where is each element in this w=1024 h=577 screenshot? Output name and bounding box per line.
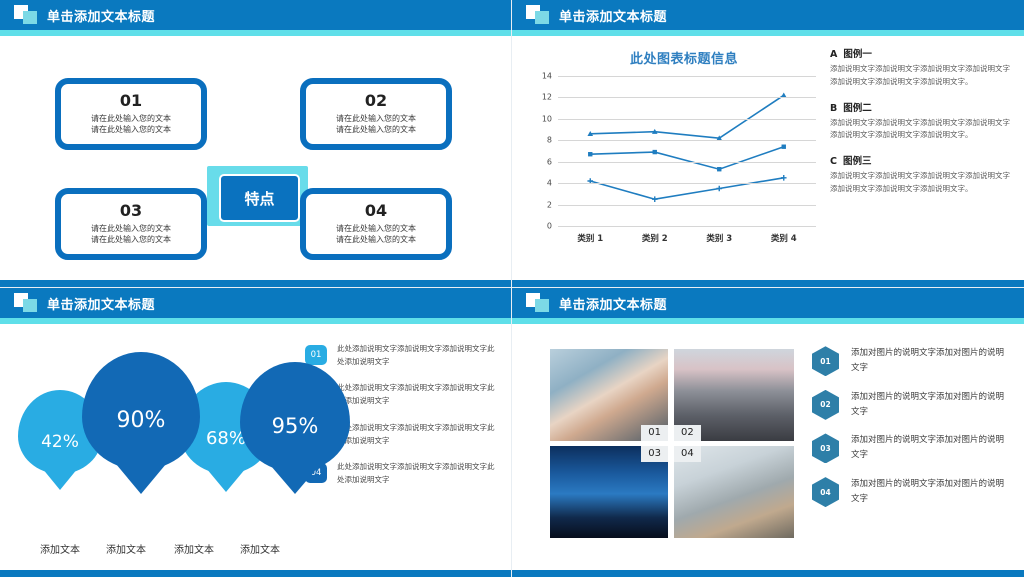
chart-gridline xyxy=(558,162,816,163)
chart-y-tick-label: 2 xyxy=(547,200,552,209)
pin-4-label: 添加文本 xyxy=(214,541,306,556)
photo-desc-03: 添加对图片的说明文字添加对图片的说明文字 xyxy=(851,433,1012,464)
chart-gridline xyxy=(558,183,816,184)
pin-4[interactable]: 95% xyxy=(240,362,350,472)
chart-marker xyxy=(716,186,722,192)
feature-box-03-line2: 请在此处输入您的文本 xyxy=(91,234,171,246)
legend-item-1-title: 图例一 xyxy=(843,49,872,60)
pin-3-tip xyxy=(206,468,246,492)
legend-item-3-letter: C xyxy=(830,156,837,167)
slide-1-footer-bar xyxy=(0,280,511,287)
slide-4-title: 单击添加文本标题 xyxy=(559,294,667,313)
chart-gridline xyxy=(558,76,816,77)
legend-item-1-heading: A图例一 xyxy=(830,46,1010,60)
feature-box-01-line2: 请在此处输入您的文本 xyxy=(91,124,171,136)
photo-desc-02: 添加对图片的说明文字添加对图片的说明文字 xyxy=(851,390,1012,421)
center-feature-box: 特点 xyxy=(219,174,300,222)
chart-y-tick-label: 4 xyxy=(547,179,552,188)
feature-box-02-number: 02 xyxy=(365,92,387,110)
feature-box-04-line2: 请在此处输入您的文本 xyxy=(336,234,416,246)
legend-item-1-desc: 添加说明文字添加说明文字添加说明文字添加说明文字添加说明文字添加说明文字添加说明… xyxy=(830,63,1010,89)
chart-gridline xyxy=(558,226,816,227)
chart-y-tick-label: 0 xyxy=(547,222,552,231)
chart-x-tick-label: 类别 2 xyxy=(623,232,688,250)
line-chart-plot: 02468101214 xyxy=(558,76,816,226)
hex-badge-04: 04 xyxy=(812,477,839,507)
chart-y-tick-label: 8 xyxy=(547,136,552,145)
photo-desc-01: 添加对图片的说明文字添加对图片的说明文字 xyxy=(851,346,1012,377)
chart-marker xyxy=(652,196,658,202)
chart-y-tick-label: 14 xyxy=(542,72,552,81)
pin-2[interactable]: 90% xyxy=(82,352,200,470)
chart-marker xyxy=(717,167,721,171)
feature-box-01-number: 01 xyxy=(120,92,142,110)
chart-series-line-1 xyxy=(590,95,784,138)
chart-marker xyxy=(653,150,657,154)
chart-x-tick-label: 类别 4 xyxy=(752,232,817,250)
slide-1-title: 单击添加文本标题 xyxy=(47,6,155,25)
pin-4-percent: 95% xyxy=(240,414,350,438)
legend-item-3: C图例三添加说明文字添加说明文字添加说明文字添加说明文字添加说明文字添加说明文字… xyxy=(830,153,1010,196)
slide-3-title: 单击添加文本标题 xyxy=(47,294,155,313)
photo-tag-02: 02 xyxy=(674,425,701,441)
slide-3-header: 单击添加文本标题 xyxy=(0,288,511,318)
chart-marker xyxy=(781,175,787,181)
list-item[interactable]: 04此处添加说明文字添加说明文字添加说明文字此处添加说明文字 xyxy=(305,460,500,486)
list-item[interactable]: 01添加对图片的说明文字添加对图片的说明文字 xyxy=(812,346,1012,377)
slide-3-footer-bar xyxy=(0,570,511,577)
two-squares-logo-icon xyxy=(14,293,38,313)
chart-gridline xyxy=(558,140,816,141)
chart-y-tick-label: 6 xyxy=(547,157,552,166)
photo-desc-04: 添加对图片的说明文字添加对图片的说明文字 xyxy=(851,477,1012,508)
chart-y-tick-label: 10 xyxy=(542,114,552,123)
list-item-text-04: 此处添加说明文字添加说明文字添加说明文字此处添加说明文字 xyxy=(337,460,500,486)
hex-badge-03: 03 xyxy=(812,433,839,463)
legend-item-2-desc: 添加说明文字添加说明文字添加说明文字添加说明文字添加说明文字添加说明文字添加说明… xyxy=(830,117,1010,143)
chart-marker xyxy=(588,152,592,156)
slide-2-header: 单击添加文本标题 xyxy=(512,0,1024,30)
slide-2: 单击添加文本标题 此处图表标题信息 02468101214 类别 1类别 2类别… xyxy=(512,0,1024,288)
two-squares-logo-icon xyxy=(526,5,550,25)
chart-x-tick-label: 类别 3 xyxy=(687,232,752,250)
photo-description-list: 01添加对图片的说明文字添加对图片的说明文字02添加对图片的说明文字添加对图片的… xyxy=(812,346,1012,520)
list-item[interactable]: 03添加对图片的说明文字添加对图片的说明文字 xyxy=(812,433,1012,464)
list-item-badge-01: 01 xyxy=(305,345,327,365)
pin-2-percent: 90% xyxy=(82,408,200,433)
two-squares-logo-icon xyxy=(14,5,38,25)
hex-badge-01: 01 xyxy=(812,346,839,376)
feature-box-03-number: 03 xyxy=(120,202,142,220)
legend-item-3-title: 图例三 xyxy=(843,156,872,167)
line-chart-svg xyxy=(558,76,816,226)
list-item-text-03: 此处添加说明文字添加说明文字添加说明文字此处添加说明文字 xyxy=(337,421,500,447)
photo-01[interactable]: 01 xyxy=(550,349,668,441)
feature-box-01-line1: 请在此处输入您的文本 xyxy=(91,113,171,125)
slide-4: 单击添加文本标题 01020304 01添加对图片的说明文字添加对图片的说明文字… xyxy=(512,288,1024,577)
feature-box-03[interactable]: 03 请在此处输入您的文本 请在此处输入您的文本 xyxy=(55,188,207,260)
list-item-text-02: 此处添加说明文字添加说明文字添加说明文字此处添加说明文字 xyxy=(337,381,500,407)
legend-item-2-title: 图例二 xyxy=(843,103,872,114)
slide-1-header: 单击添加文本标题 xyxy=(0,0,511,30)
slide-2-footer-bar xyxy=(512,280,1024,287)
pin-1-tip xyxy=(42,468,78,490)
feature-box-02-line1: 请在此处输入您的文本 xyxy=(336,113,416,125)
legend-item-3-desc: 添加说明文字添加说明文字添加说明文字添加说明文字添加说明文字添加说明文字添加说明… xyxy=(830,170,1010,196)
photo-04[interactable]: 04 xyxy=(674,446,794,538)
chart-series-line-2 xyxy=(590,147,784,170)
center-feature-label: 特点 xyxy=(244,188,274,209)
chart-x-axis: 类别 1类别 2类别 3类别 4 xyxy=(558,232,816,250)
chart-title: 此处图表标题信息 xyxy=(534,48,834,67)
pin-2-tip xyxy=(116,464,166,494)
legend-item-2-heading: B图例二 xyxy=(830,100,1010,114)
slide-2-body: 此处图表标题信息 02468101214 类别 1类别 2类别 3类别 4 A图… xyxy=(512,36,1024,280)
feature-box-02-line2: 请在此处输入您的文本 xyxy=(336,124,416,136)
chart-x-tick-label: 类别 1 xyxy=(558,232,623,250)
photo-tag-01: 01 xyxy=(641,425,668,441)
legend-item-3-heading: C图例三 xyxy=(830,153,1010,167)
chart-gridline xyxy=(558,97,816,98)
list-item-text-01: 此处添加说明文字添加说明文字添加说明文字此处添加说明文字 xyxy=(337,342,500,368)
feature-box-02[interactable]: 02 请在此处输入您的文本 请在此处输入您的文本 xyxy=(300,78,452,150)
chart-series-line-3 xyxy=(590,178,784,199)
legend-item-1: A图例一添加说明文字添加说明文字添加说明文字添加说明文字添加说明文字添加说明文字… xyxy=(830,46,1010,89)
list-item[interactable]: 01此处添加说明文字添加说明文字添加说明文字此处添加说明文字 xyxy=(305,342,500,368)
chart-marker xyxy=(782,145,786,149)
feature-box-04-number: 04 xyxy=(365,202,387,220)
feature-box-04-line1: 请在此处输入您的文本 xyxy=(336,223,416,235)
list-item[interactable]: 02添加对图片的说明文字添加对图片的说明文字 xyxy=(812,390,1012,421)
feature-box-04[interactable]: 04 请在此处输入您的文本 请在此处输入您的文本 xyxy=(300,188,452,260)
hex-badge-02: 02 xyxy=(812,390,839,420)
pin-4-tip xyxy=(271,466,319,494)
legend-item-2: B图例二添加说明文字添加说明文字添加说明文字添加说明文字添加说明文字添加说明文字… xyxy=(830,100,1010,143)
slide-1: 单击添加文本标题 特点 01 请在此处输入您的文本 请在此处输入您的文本 02 … xyxy=(0,0,512,288)
photo-tag-03: 03 xyxy=(641,446,668,462)
chart-legend: A图例一添加说明文字添加说明文字添加说明文字添加说明文字添加说明文字添加说明文字… xyxy=(830,46,1010,207)
slide-2-title: 单击添加文本标题 xyxy=(559,6,667,25)
chart-y-tick-label: 12 xyxy=(542,93,552,102)
legend-item-1-letter: A xyxy=(830,49,837,60)
two-squares-logo-icon xyxy=(526,293,550,313)
chart-gridline xyxy=(558,119,816,120)
slide-3: 单击添加文本标题 42%添加文本90%添加文本68%添加文本95%添加文本 01… xyxy=(0,288,512,577)
slide-3-body: 42%添加文本90%添加文本68%添加文本95%添加文本 01此处添加说明文字添… xyxy=(0,324,511,570)
slide-1-body: 特点 01 请在此处输入您的文本 请在此处输入您的文本 02 请在此处输入您的文… xyxy=(0,36,511,280)
slide-4-body: 01020304 01添加对图片的说明文字添加对图片的说明文字02添加对图片的说… xyxy=(512,324,1024,570)
slide-4-footer-bar xyxy=(512,570,1024,577)
photo-02[interactable]: 02 xyxy=(674,349,794,441)
slide-4-header: 单击添加文本标题 xyxy=(512,288,1024,318)
feature-box-01[interactable]: 01 请在此处输入您的文本 请在此处输入您的文本 xyxy=(55,78,207,150)
chart-gridline xyxy=(558,205,816,206)
slide-deck: 单击添加文本标题 特点 01 请在此处输入您的文本 请在此处输入您的文本 02 … xyxy=(0,0,1024,577)
feature-box-03-line1: 请在此处输入您的文本 xyxy=(91,223,171,235)
photo-03[interactable]: 03 xyxy=(550,446,668,538)
legend-item-2-letter: B xyxy=(830,103,837,114)
list-item[interactable]: 04添加对图片的说明文字添加对图片的说明文字 xyxy=(812,477,1012,508)
photo-tag-04: 04 xyxy=(674,446,701,462)
